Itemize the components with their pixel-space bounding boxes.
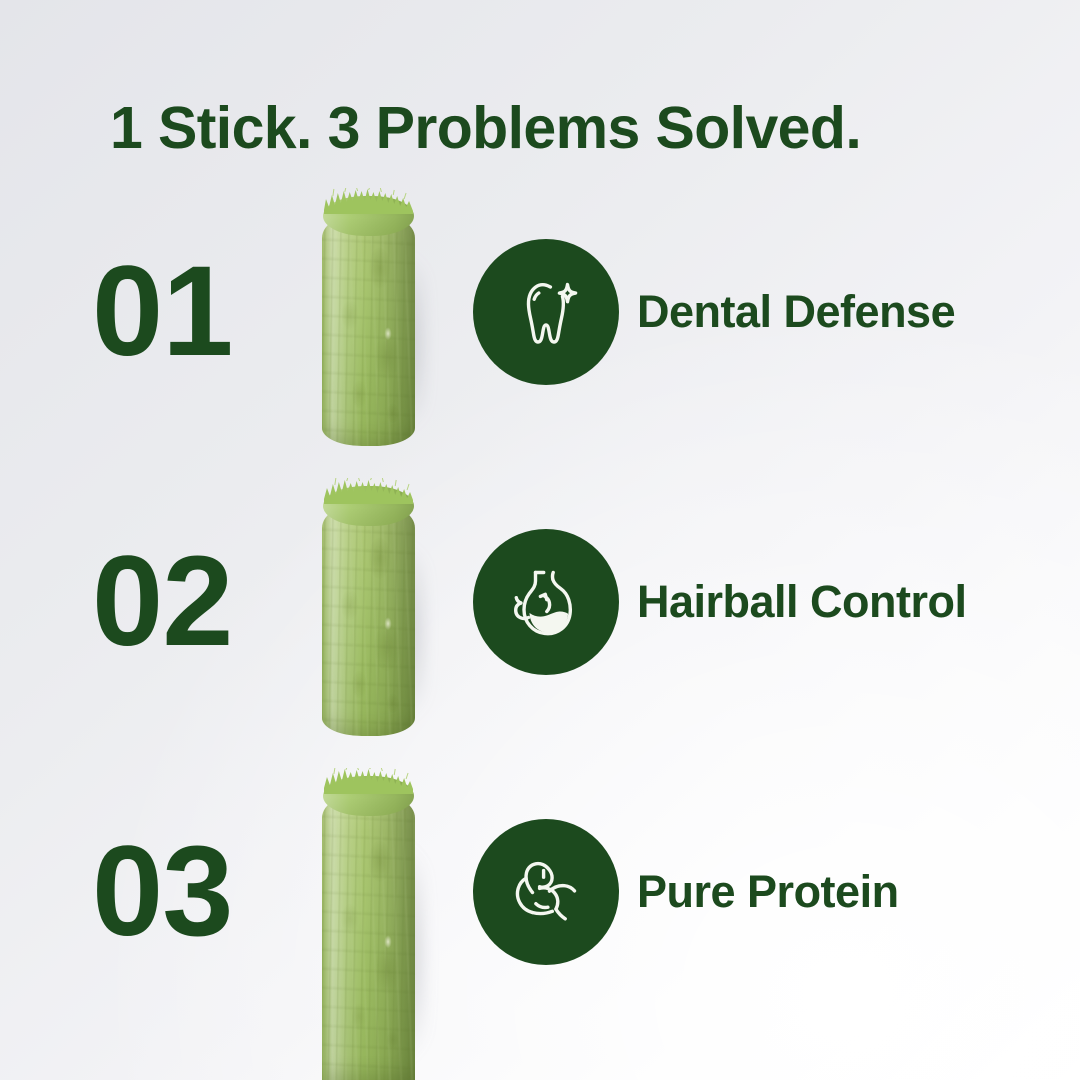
product-stick-frayed-end	[324, 188, 413, 214]
benefit-label: Pure Protein	[637, 867, 899, 917]
benefit-icon-badge	[473, 239, 619, 385]
stomach-icon	[499, 555, 593, 649]
product-stick-mottle-texture	[322, 212, 415, 446]
benefit-row: 02 Hairball Control	[0, 527, 1080, 677]
product-stick-image	[322, 768, 415, 1080]
product-stick-frayed-end	[324, 768, 413, 794]
product-stick-body	[322, 792, 415, 1080]
benefit-icon-badge	[473, 529, 619, 675]
benefit-step-number: 01	[92, 248, 232, 376]
product-stick-body	[322, 502, 415, 736]
benefit-row: 03	[0, 817, 1080, 967]
benefit-step-number: 02	[92, 538, 232, 666]
promo-poster: 1 Stick. 3 Problems Solved.	[0, 0, 1080, 1080]
benefit-step-number: 03	[92, 828, 232, 956]
product-stick-image	[322, 188, 415, 446]
benefit-label: Dental Defense	[637, 287, 955, 337]
benefit-label: Hairball Control	[637, 577, 967, 627]
page-title: 1 Stick. 3 Problems Solved.	[110, 96, 990, 160]
tooth-sparkle-icon	[500, 266, 592, 358]
product-stick-body	[322, 212, 415, 446]
benefit-row: 01 Dental Defense	[0, 237, 1080, 387]
benefit-icon-badge	[473, 819, 619, 965]
product-stick-image	[322, 478, 415, 736]
product-stick-frayed-end	[324, 478, 413, 504]
product-stick-mottle-texture	[322, 502, 415, 736]
flexed-bicep-icon	[499, 845, 593, 939]
product-stick-mottle-texture	[322, 792, 415, 1080]
